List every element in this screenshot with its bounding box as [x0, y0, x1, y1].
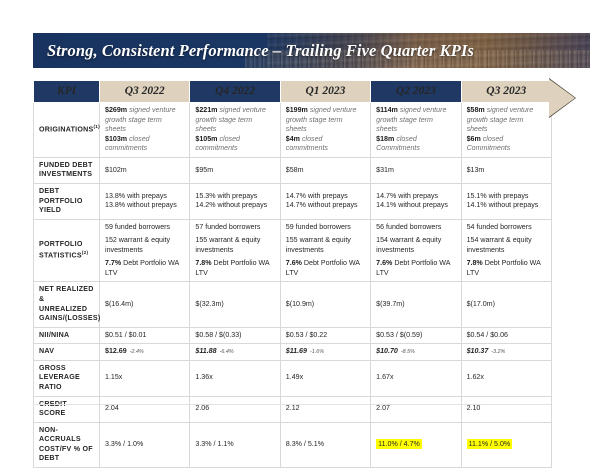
table-row: CREDIT SCORE2.042.062.122.072.10: [34, 396, 552, 422]
cell-gross-leverage-ratio-q1-2023: 1.49x: [280, 360, 370, 396]
cell-portfolio-statistics-q4-2022: 57 funded borrowers155 warrant & equity …: [190, 219, 280, 282]
cell-originations-q3-2022: $269m signed venture growth stage term s…: [100, 103, 190, 158]
cell-funded-debt-investments-q2-2023: $31m: [371, 157, 461, 183]
cell-nii-nina-q1-2023: $0.53 / $0.22: [280, 327, 370, 344]
cell-portfolio-statistics-q2-2023: 56 funded borrowers154 warrant & equity …: [371, 219, 461, 282]
row-label-originations: ORIGINATIONS(1): [34, 103, 100, 158]
cell-originations-q3-2023: $58m signed venture growth stage term sh…: [461, 103, 551, 158]
cell-debt-portfolio-yield-q4-2022: 15.3% with prepays14.2% without prepays: [190, 183, 280, 219]
table-bottom-rule: [33, 404, 551, 405]
table-row: FUNDED DEBT INVESTMENTS$102m$95m$58m$31m…: [34, 157, 552, 183]
cell-nav-q3-2023: $10.37-3.2%: [461, 344, 551, 361]
row-label-portfolio-statistics: PORTFOLIO STATISTICS(2): [34, 219, 100, 282]
cell-funded-debt-investments-q3-2023: $13m: [461, 157, 551, 183]
cell-nav-q4-2022: $11.88-6.4%: [190, 344, 280, 361]
cell-originations-q1-2023: $199m signed venture growth stage term s…: [280, 103, 370, 158]
cell-net-realized-unrealized-gains-losses-q4-2022: $(32.3m): [190, 282, 280, 327]
row-label-credit-score: CREDIT SCORE: [34, 396, 100, 422]
cell-net-realized-unrealized-gains-losses-q2-2023: $(39.7m): [371, 282, 461, 327]
table-row: GROSS LEVERAGE RATIO1.15x1.36x1.49x1.67x…: [34, 360, 552, 396]
cell-debt-portfolio-yield-q1-2023: 14.7% with prepays14.7% without prepays: [280, 183, 370, 219]
cell-nii-nina-q2-2023: $0.53 / $(0.59): [371, 327, 461, 344]
cell-credit-score-q1-2023: 2.12: [280, 396, 370, 422]
cell-gross-leverage-ratio-q3-2022: 1.15x: [100, 360, 190, 396]
cell-net-realized-unrealized-gains-losses-q3-2022: $(16.4m): [100, 282, 190, 327]
row-label-net-realized-unrealized-gains-losses: NET REALIZED & UNREALIZED GAINS/(LOSSES): [34, 282, 100, 327]
row-label-funded-debt-investments: FUNDED DEBT INVESTMENTS: [34, 157, 100, 183]
cell-nav-q2-2023: $10.70-8.5%: [371, 344, 461, 361]
cell-originations-q4-2022: $221m signed venture growth stage term s…: [190, 103, 280, 158]
cell-nii-nina-q3-2023: $0.54 / $0.06: [461, 327, 551, 344]
cell-funded-debt-investments-q1-2023: $58m: [280, 157, 370, 183]
row-label-gross-leverage-ratio: GROSS LEVERAGE RATIO: [34, 360, 100, 396]
table-header-row: KPI Q3 2022 Q4 2022 Q1 2023 Q2 2023 Q3 2…: [34, 81, 552, 103]
cell-nav-q3-2022: $12.69-2.4%: [100, 344, 190, 361]
cell-gross-leverage-ratio-q2-2023: 1.67x: [371, 360, 461, 396]
table-row: NAV$12.69-2.4%$11.88-6.4%$11.69-1.6%$10.…: [34, 344, 552, 361]
cell-portfolio-statistics-q3-2022: 59 funded borrowers152 warrant & equity …: [100, 219, 190, 282]
cell-portfolio-statistics-q1-2023: 59 funded borrowers155 warrant & equity …: [280, 219, 370, 282]
cell-nii-nina-q3-2022: $0.51 / $0.01: [100, 327, 190, 344]
row-label-debt-portfolio-yield: DEBT PORTFOLIO YIELD: [34, 183, 100, 219]
title-banner: Strong, Consistent Performance – Trailin…: [33, 33, 590, 68]
cell-nii-nina-q4-2022: $0.58 / $(0.33): [190, 327, 280, 344]
cell-nav-q1-2023: $11.69-1.6%: [280, 344, 370, 361]
cell-originations-q2-2023: $114m signed venture growth stage term s…: [371, 103, 461, 158]
column-header-q1-2023: Q1 2023: [280, 81, 370, 103]
table-row: NET REALIZED & UNREALIZED GAINS/(LOSSES)…: [34, 282, 552, 327]
cell-debt-portfolio-yield-q2-2023: 14.7% with prepays14.1% without prepays: [371, 183, 461, 219]
slide-title: Strong, Consistent Performance – Trailin…: [47, 33, 474, 68]
cell-credit-score-q3-2022: 2.04: [100, 396, 190, 422]
slide-canvas: Strong, Consistent Performance – Trailin…: [0, 0, 609, 429]
table-row: ORIGINATIONS(1)$269m signed venture grow…: [34, 103, 552, 158]
cell-net-realized-unrealized-gains-losses-q1-2023: $(10.9m): [280, 282, 370, 327]
column-header-kpi: KPI: [34, 81, 100, 103]
cell-credit-score-q3-2023: 2.10: [461, 396, 551, 422]
column-header-q3-2023: Q3 2023: [461, 81, 551, 103]
cell-gross-leverage-ratio-q3-2023: 1.62x: [461, 360, 551, 396]
column-header-q2-2023: Q2 2023: [371, 81, 461, 103]
cell-credit-score-q4-2022: 2.06: [190, 396, 280, 422]
kpi-table: KPI Q3 2022 Q4 2022 Q1 2023 Q2 2023 Q3 2…: [33, 80, 552, 468]
cell-credit-score-q2-2023: 2.07: [371, 396, 461, 422]
column-header-q4-2022: Q4 2022: [190, 81, 280, 103]
cell-debt-portfolio-yield-q3-2023: 15.1% with prepays14.1% without prepays: [461, 183, 551, 219]
row-label-nii-nina: NII/NINA: [34, 327, 100, 344]
cell-portfolio-statistics-q3-2023: 54 funded borrowers154 warrant & equity …: [461, 219, 551, 282]
table-row: PORTFOLIO STATISTICS(2)59 funded borrowe…: [34, 219, 552, 282]
cell-funded-debt-investments-q3-2022: $102m: [100, 157, 190, 183]
cell-net-realized-unrealized-gains-losses-q3-2023: $(17.0m): [461, 282, 551, 327]
cell-debt-portfolio-yield-q3-2022: 13.8% with prepays13.8% without prepays: [100, 183, 190, 219]
table-row: DEBT PORTFOLIO YIELD13.8% with prepays13…: [34, 183, 552, 219]
header-arrow-icon: [549, 79, 575, 117]
column-header-q3-2022: Q3 2022: [100, 81, 190, 103]
row-label-nav: NAV: [34, 344, 100, 361]
table-row: NII/NINA$0.51 / $0.01$0.58 / $(0.33)$0.5…: [34, 327, 552, 344]
cell-gross-leverage-ratio-q4-2022: 1.36x: [190, 360, 280, 396]
cell-funded-debt-investments-q4-2022: $95m: [190, 157, 280, 183]
